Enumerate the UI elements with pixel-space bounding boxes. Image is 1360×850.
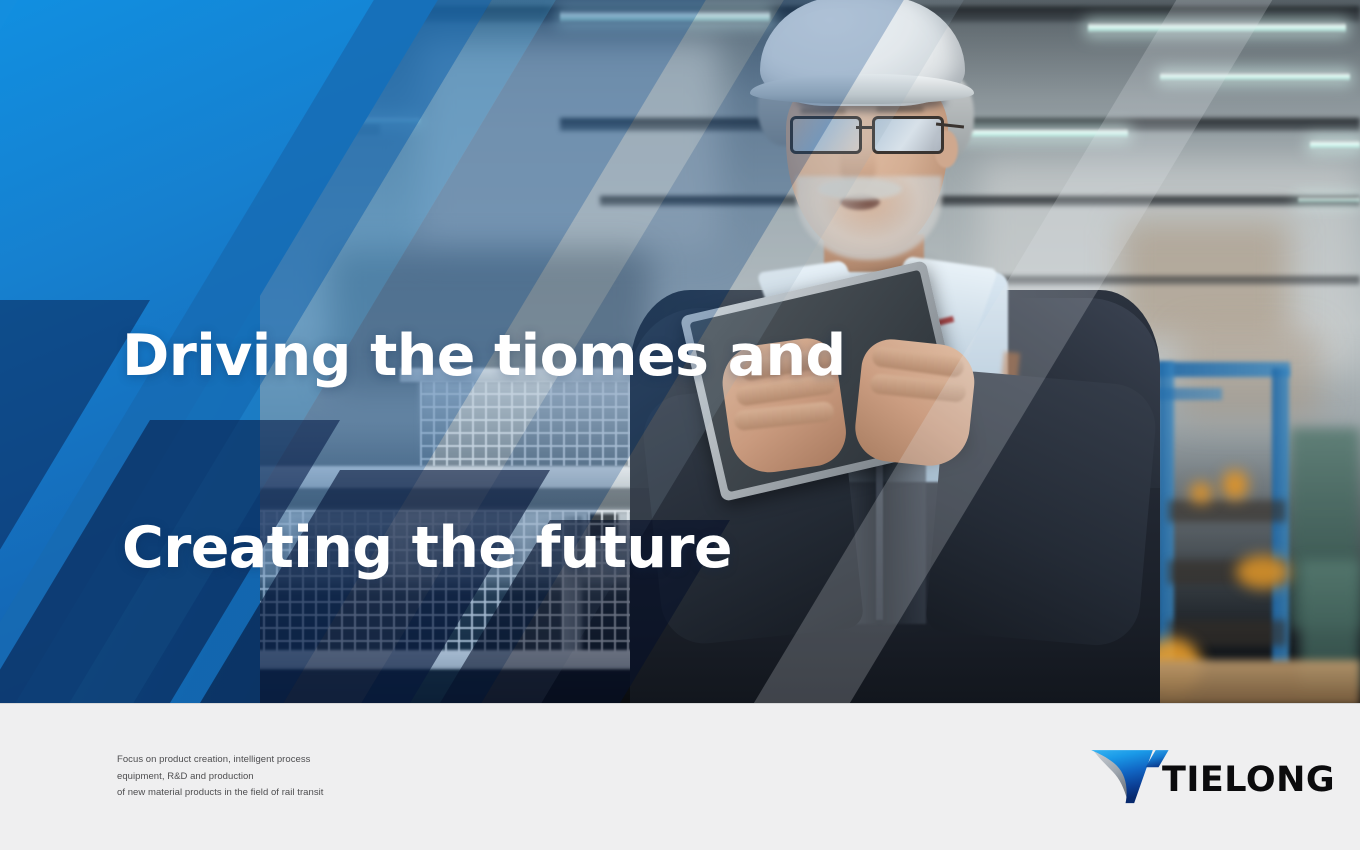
- tielong-logo[interactable]: TIELONG: [1084, 735, 1314, 811]
- headline-line-2: Creating the future: [122, 516, 846, 580]
- tielong-wordmark: TIELONG: [1162, 763, 1335, 798]
- headline-line-1: Driving the tiomes and: [122, 324, 846, 388]
- footer-caption: Focus on product creation, intelligent p…: [117, 752, 323, 802]
- tielong-t-mark-icon: [1084, 737, 1170, 809]
- hero-image: Driving the tiomes and Creating the futu…: [0, 0, 1360, 703]
- hero-banner: Driving the tiomes and Creating the futu…: [0, 0, 1360, 850]
- footer-caption-line-3: of new material products in the field of…: [117, 785, 323, 802]
- hero-headline: Driving the tiomes and Creating the futu…: [122, 196, 846, 703]
- footer-caption-line-2: equipment, R&D and production: [117, 769, 323, 786]
- footer-caption-line-1: Focus on product creation, intelligent p…: [117, 752, 323, 769]
